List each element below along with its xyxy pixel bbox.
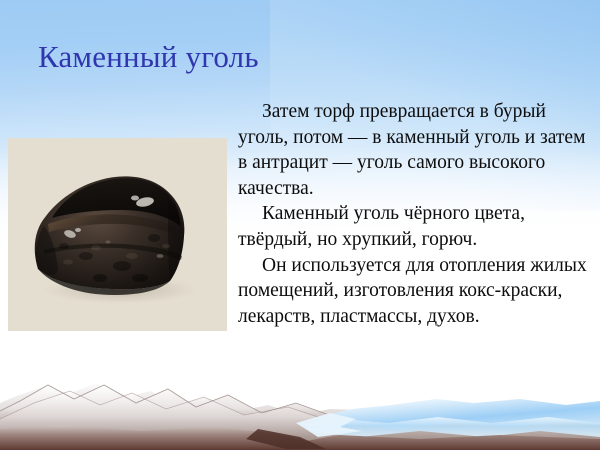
coal-lump-photo-icon	[8, 138, 227, 331]
paragraph-1: Затем торф превращается в бурый уголь, п…	[238, 99, 590, 201]
body-text-block: Затем торф превращается в бурый уголь, п…	[238, 99, 590, 329]
coal-photo	[8, 138, 227, 331]
footer-decoration	[0, 345, 600, 450]
paragraph-3: Он используется для отопления жилых поме…	[238, 253, 590, 330]
paragraph-2: Каменный уголь чёрного цвета, твёрдый, н…	[238, 201, 590, 252]
mountain-landscape-decoration-icon	[0, 345, 600, 450]
slide-title: Каменный уголь	[38, 38, 558, 76]
presentation-slide: Каменный уголь	[0, 0, 600, 450]
